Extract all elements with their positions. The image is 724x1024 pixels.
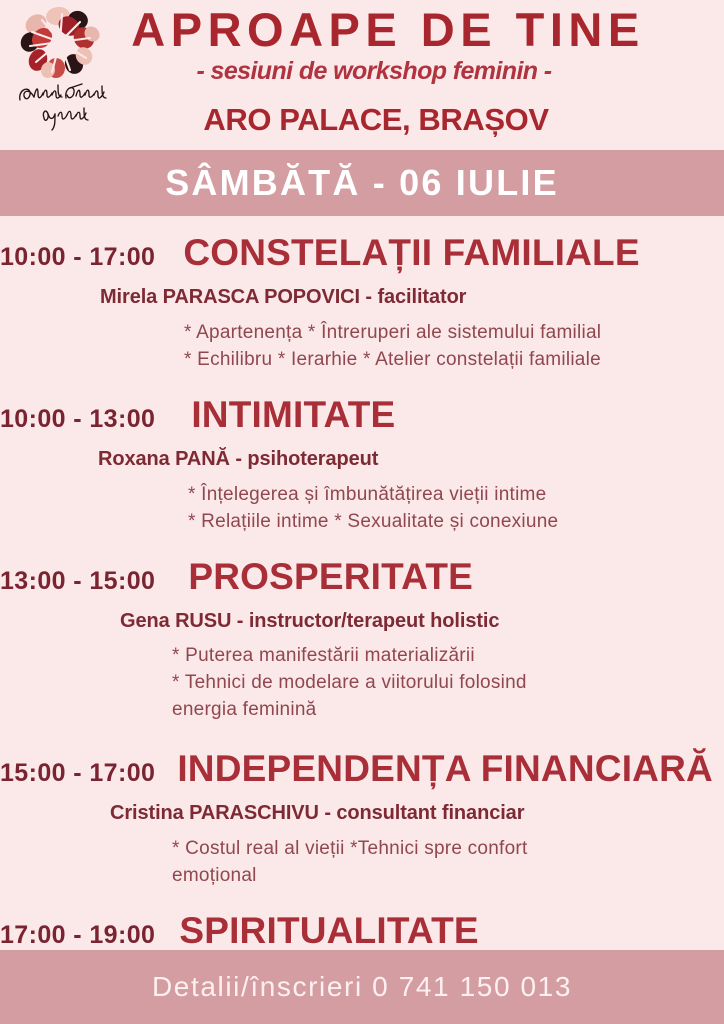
poster-venue: ARO PALACE, BRAȘOV xyxy=(0,104,724,135)
session-header: 10:00 - 13:00 INTIMITATE xyxy=(0,396,724,433)
session-topic-line: emoțional xyxy=(172,863,724,890)
session-topics: * Înțelegerea și îmbunătățirea vieții in… xyxy=(0,482,724,536)
session-topic-line: * Tehnici de modelare a viitorului folos… xyxy=(172,670,724,697)
session-header: 15:00 - 17:00 INDEPENDENȚA FINANCIARĂ xyxy=(0,750,724,787)
session-time: 10:00 - 13:00 xyxy=(0,407,155,432)
session-speaker: Gena RUSU - instructor/terapeut holistic xyxy=(0,611,724,631)
session-item: 10:00 - 17:00 CONSTELAȚII FAMILIALE Mire… xyxy=(0,234,724,374)
session-list: 10:00 - 17:00 CONSTELAȚII FAMILIALE Mire… xyxy=(0,216,724,1024)
session-title: INDEPENDENȚA FINANCIARĂ xyxy=(177,750,713,787)
session-title: CONSTELAȚII FAMILIALE xyxy=(183,234,639,271)
contact-text: Detalii/înscrieri 0 741 150 013 xyxy=(152,973,572,1001)
session-header: 10:00 - 17:00 CONSTELAȚII FAMILIALE xyxy=(0,234,724,271)
session-item: 10:00 - 13:00 INTIMITATE Roxana PANĂ - p… xyxy=(0,396,724,536)
session-time: 15:00 - 17:00 xyxy=(0,761,155,786)
session-item: 15:00 - 17:00 INDEPENDENȚA FINANCIARĂ Cr… xyxy=(0,750,724,890)
footer-banner: Detalii/înscrieri 0 741 150 013 xyxy=(0,950,724,1024)
session-speaker: Roxana PANĂ - psihoterapeut xyxy=(0,449,724,469)
poster-root: APROAPE DE TINE - sesiuni de workshop fe… xyxy=(0,0,724,1024)
session-title: PROSPERITATE xyxy=(188,558,473,595)
session-topic-line: * Echilibru * Ierarhie * Atelier constel… xyxy=(184,347,724,374)
session-time: 13:00 - 15:00 xyxy=(0,569,155,594)
session-header: 13:00 - 15:00 PROSPERITATE xyxy=(0,558,724,595)
session-speaker: Cristina PARASCHIVU - consultant financi… xyxy=(0,803,724,823)
session-speaker: Mirela PARASCA POPOVICI - facilitator xyxy=(0,287,724,307)
session-topic-line: energia feminină xyxy=(172,697,724,724)
date-banner-text: SÂMBĂTĂ - 06 IULIE xyxy=(165,165,559,201)
session-topic-line: * Costul real al vieții *Tehnici spre co… xyxy=(172,836,724,863)
session-item: 13:00 - 15:00 PROSPERITATE Gena RUSU - i… xyxy=(0,558,724,724)
session-topic-line: * Relațiile intime * Sexualitate și cone… xyxy=(188,509,724,536)
session-title: INTIMITATE xyxy=(191,396,395,433)
poster-title: APROAPE DE TINE xyxy=(0,6,724,53)
session-title: SPIRITUALITATE xyxy=(179,912,478,949)
session-topics: * Costul real al vieții *Tehnici spre co… xyxy=(0,836,724,890)
session-topics: * Apartenența * Întreruperi ale sistemul… xyxy=(0,320,724,374)
poster-header: APROAPE DE TINE - sesiuni de workshop fe… xyxy=(0,0,724,150)
session-time: 10:00 - 17:00 xyxy=(0,245,155,270)
poster-subtitle: - sesiuni de workshop feminin - xyxy=(0,59,724,84)
session-time: 17:00 - 19:00 xyxy=(0,923,155,948)
session-topics: * Puterea manifestării materializării * … xyxy=(0,643,724,724)
session-topic-line: * Puterea manifestării materializării xyxy=(172,643,724,670)
session-topic-line: * Apartenența * Întreruperi ale sistemul… xyxy=(184,320,724,347)
session-topic-line: * Înțelegerea și îmbunătățirea vieții in… xyxy=(188,482,724,509)
session-header: 17:00 - 19:00 SPIRITUALITATE xyxy=(0,912,724,949)
date-banner: SÂMBĂTĂ - 06 IULIE xyxy=(0,150,724,216)
